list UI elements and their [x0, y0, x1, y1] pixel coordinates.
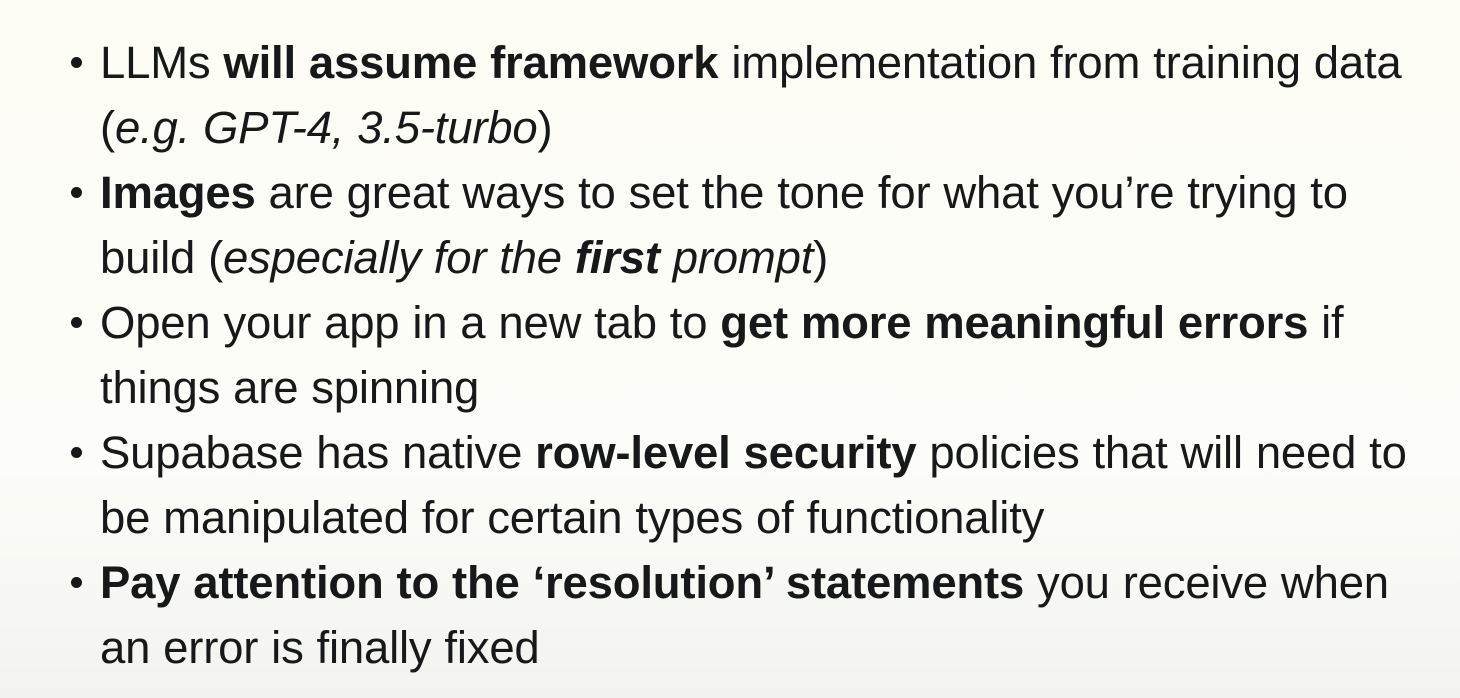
- bullet-dot-icon: [68, 160, 84, 225]
- text-run: Pay attention to the ‘resolution’ statem…: [100, 557, 1024, 608]
- text-run: Open your app in a new tab to: [100, 297, 720, 348]
- list-item: Open your app in a new tab to get more m…: [0, 290, 1452, 420]
- bullet-dot-icon: [68, 550, 84, 615]
- text-run: will assume framework: [223, 37, 718, 88]
- text-run: ): [813, 232, 828, 283]
- bullet-dot-icon: [68, 290, 84, 355]
- list-item-text: Open your app in a new tab to get more m…: [100, 297, 1356, 413]
- text-run: LLMs: [100, 37, 223, 88]
- list-item-text: Images are great ways to set the tone fo…: [100, 167, 1361, 283]
- list-item: Supabase has native row-level security p…: [0, 420, 1452, 550]
- list-item: Images are great ways to set the tone fo…: [0, 160, 1452, 290]
- list-item: LLMs will assume framework implementatio…: [0, 30, 1452, 160]
- text-run: first: [575, 232, 660, 283]
- text-run: especially for the: [223, 232, 575, 283]
- text-run: get more meaningful errors: [720, 297, 1308, 348]
- bullet-list: LLMs will assume framework implementatio…: [0, 0, 1460, 680]
- text-run: prompt: [660, 232, 813, 283]
- list-item: Pay attention to the ‘resolution’ statem…: [0, 550, 1452, 680]
- list-item-text: Supabase has native row-level security p…: [100, 427, 1420, 543]
- bullet-dot-icon: [68, 30, 84, 95]
- list-item-text: Pay attention to the ‘resolution’ statem…: [100, 557, 1402, 673]
- text-run: Images: [100, 167, 256, 218]
- text-run: Supabase has native: [100, 427, 535, 478]
- text-run: ): [538, 102, 553, 153]
- slide-canvas: LLMs will assume framework implementatio…: [0, 0, 1460, 698]
- bullet-dot-icon: [68, 420, 84, 485]
- list-item-text: LLMs will assume framework implementatio…: [100, 37, 1414, 153]
- text-run: e.g. GPT-4, 3.5-turbo: [115, 102, 538, 153]
- text-run: row-level security: [535, 427, 916, 478]
